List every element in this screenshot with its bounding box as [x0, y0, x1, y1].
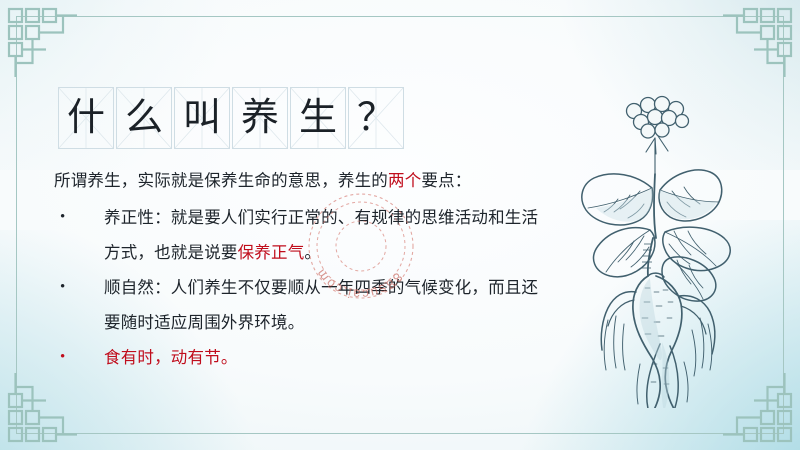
lead-highlight: 两个 [388, 171, 421, 190]
corner-ornament-top-right [720, 6, 794, 80]
title-char: 养 [241, 99, 279, 137]
list-item: • 养正性：就是要人们实行正常的、有规律的思维活动和生活方式，也就是说要保养正气… [54, 200, 554, 270]
body-content: 所谓养生，实际就是保养生命的意思，养生的两个要点： • 养正性：就是要人们实行正… [54, 163, 554, 375]
bullet-marker-icon: • [54, 270, 104, 305]
list-item-highlight: 保养正气 [238, 243, 305, 262]
bullet-marker-icon: • [54, 340, 104, 375]
title-grid-cell-2: 叫 [174, 87, 230, 149]
corner-ornament-top-left [6, 6, 80, 80]
slide-canvas: 什 么 叫 [0, 0, 800, 450]
list-item-text-before: 食有时，动有节。 [104, 348, 238, 367]
title-grid-cell-1: 么 [116, 87, 172, 149]
background-tint-top-right [540, 0, 800, 170]
title-char: 什 [67, 99, 105, 137]
corner-ornament-bottom-left [6, 370, 80, 444]
title-char: ？ [357, 99, 395, 137]
lead-paragraph: 所谓养生，实际就是保养生命的意思，养生的两个要点： [54, 163, 554, 198]
corner-ornament-bottom-right [720, 370, 794, 444]
title-char: 么 [125, 99, 163, 137]
title-grid-cell-3: 养 [232, 87, 288, 149]
title-char: 叫 [183, 99, 221, 137]
list-item-text-after: 。 [304, 243, 321, 262]
title-grid-cell-5: ？ [348, 87, 404, 149]
ginseng-plant-illustration [548, 78, 780, 408]
title-grid-cell-4: 生 [290, 87, 346, 149]
list-item: • 食有时，动有节。 [54, 340, 554, 375]
bullet-marker-icon: • [54, 200, 104, 235]
list-item-text-before: 顺自然：人们养生不仅要顺从一年四季的气候变化，而且还要随时适应周围外界环境。 [104, 278, 538, 332]
title-char: 生 [299, 99, 337, 137]
lead-text-part2: 要点： [421, 171, 471, 190]
list-item-text: 养正性：就是要人们实行正常的、有规律的思维活动和生活方式，也就是说要保养正气。 [104, 200, 554, 270]
list-item: • 顺自然：人们养生不仅要顺从一年四季的气候变化，而且还要随时适应周围外界环境。 [54, 270, 554, 340]
list-item-text: 食有时，动有节。 [104, 340, 554, 375]
list-item-text: 顺自然：人们养生不仅要顺从一年四季的气候变化，而且还要随时适应周围外界环境。 [104, 270, 554, 340]
lead-text-part1: 所谓养生，实际就是保养生命的意思，养生的 [54, 171, 388, 190]
page-title: 什 么 叫 [58, 87, 404, 149]
title-grid-cell-0: 什 [58, 87, 114, 149]
